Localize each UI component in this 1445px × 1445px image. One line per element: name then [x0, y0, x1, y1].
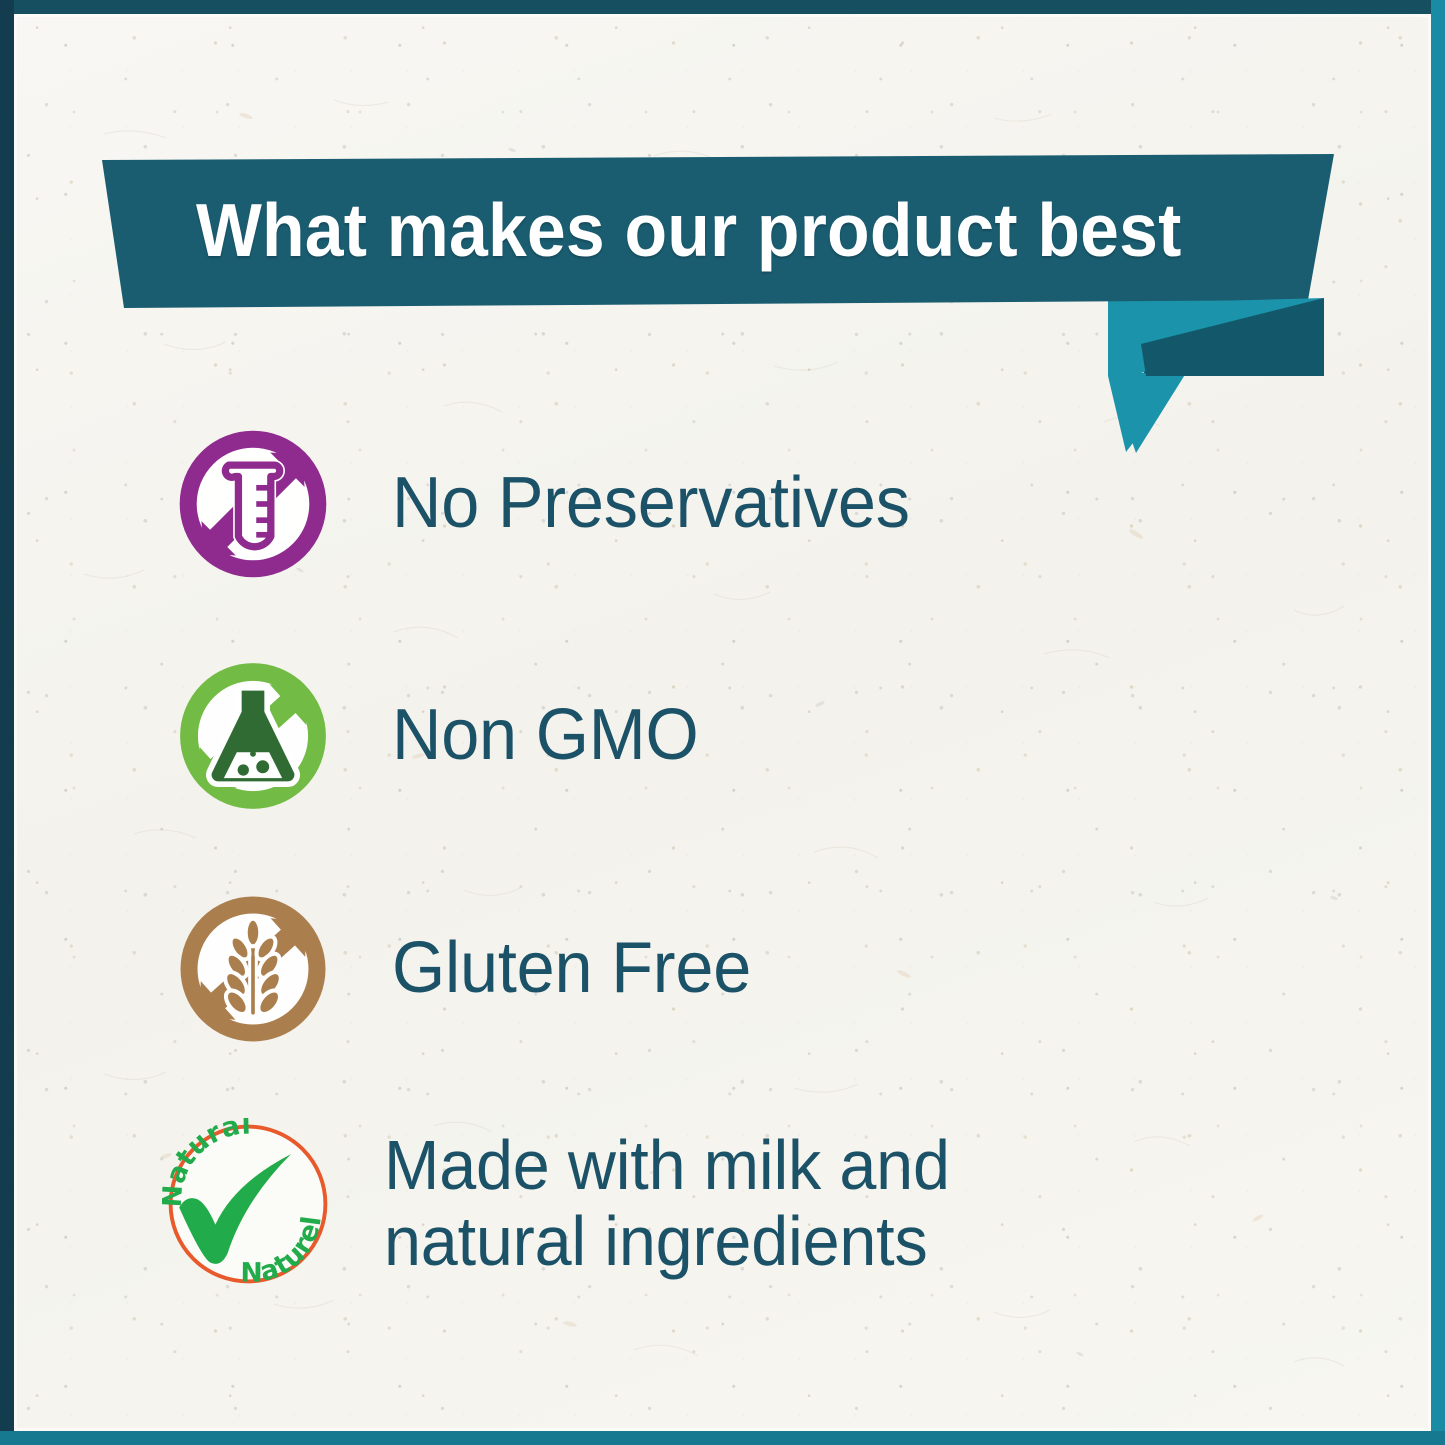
- frame-left-edge: [0, 0, 14, 1445]
- promo-poster: What makes our product best: [0, 0, 1445, 1445]
- frame-inner-hairline: [14, 14, 1431, 1431]
- frame-top-edge: [0, 0, 1445, 14]
- frame-right-edge: [1431, 0, 1445, 1445]
- frame-bottom-edge: [0, 1431, 1445, 1445]
